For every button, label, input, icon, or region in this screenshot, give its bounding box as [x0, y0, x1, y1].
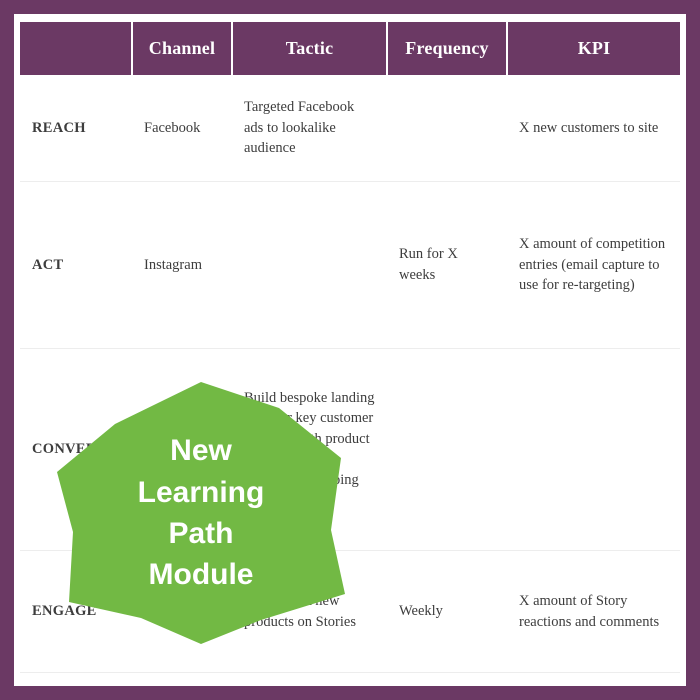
column-header-kpi: KPI: [507, 22, 680, 75]
cell-reach-channel: Facebook: [132, 75, 232, 182]
table-row: ACT Instagram Run for X weeks X amount o…: [20, 182, 680, 349]
content-canvas: Channel Tactic Frequency KPI REACH Faceb…: [14, 14, 686, 686]
column-header-stage: [20, 22, 132, 75]
cell-engage-frequency: Weekly: [387, 551, 507, 673]
page-frame: Channel Tactic Frequency KPI REACH Faceb…: [0, 0, 700, 700]
cell-act-channel: Instagram: [132, 182, 232, 349]
table-header-row: Channel Tactic Frequency KPI: [20, 22, 680, 75]
cell-act-kpi: X amount of competition entries (email c…: [507, 182, 680, 349]
cell-reach-kpi: X new customers to site: [507, 75, 680, 182]
cell-act-tactic: [232, 182, 387, 349]
column-header-tactic: Tactic: [232, 22, 387, 75]
column-header-frequency: Frequency: [387, 22, 507, 75]
cell-reach-tactic: Targeted Facebook ads to lookalike audie…: [232, 75, 387, 182]
table-row: REACH Facebook Targeted Facebook ads to …: [20, 75, 680, 182]
cell-reach-frequency: [387, 75, 507, 182]
new-learning-path-badge[interactable]: New Learning Path Module: [57, 380, 345, 646]
starburst-icon: [57, 380, 345, 646]
stage-label-act: ACT: [20, 182, 132, 349]
stage-label-reach: REACH: [20, 75, 132, 182]
cell-engage-kpi: X amount of Story reactions and comments: [507, 551, 680, 673]
column-header-channel: Channel: [132, 22, 232, 75]
cell-convert-frequency: [387, 349, 507, 551]
cell-act-frequency: Run for X weeks: [387, 182, 507, 349]
cell-convert-kpi: [507, 349, 680, 551]
